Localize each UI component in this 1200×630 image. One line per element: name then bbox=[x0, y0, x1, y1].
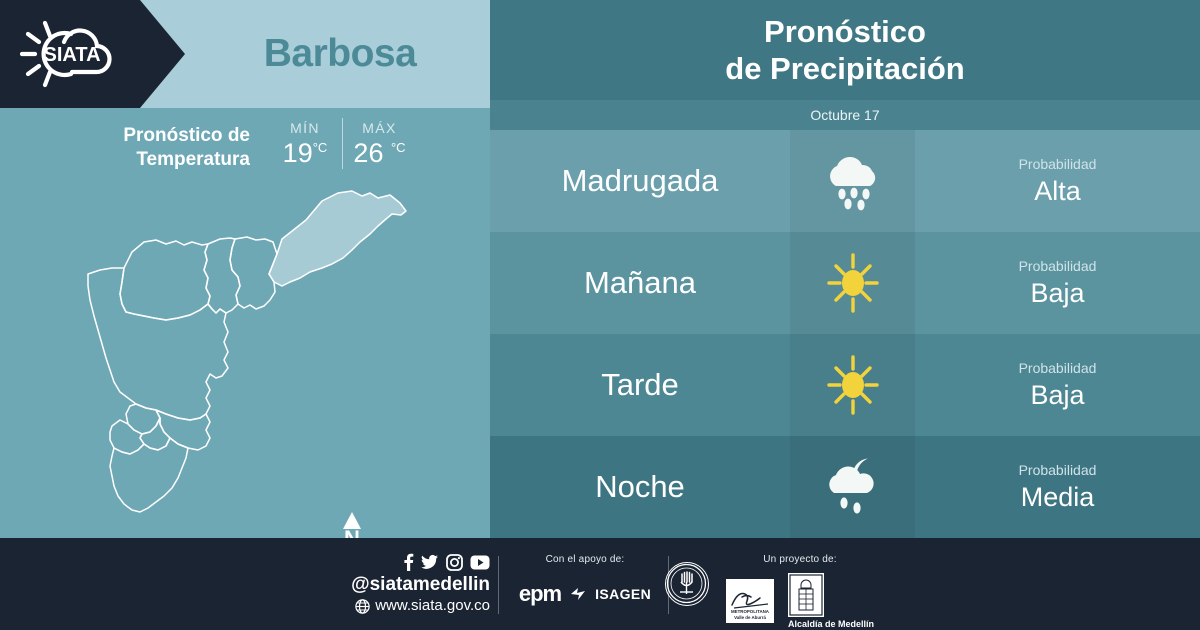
weather-icon-cell bbox=[790, 334, 915, 436]
period-cell: Tarde bbox=[490, 334, 790, 436]
date-bar: Octubre 17 bbox=[490, 100, 1200, 130]
weather-icon-cell bbox=[790, 436, 915, 538]
max-number: 26 bbox=[353, 138, 383, 168]
moon-cloud-rain-icon bbox=[816, 454, 890, 520]
social-handle[interactable]: @siatamedellin bbox=[330, 573, 490, 597]
area-metropolitana-logo: METROPOLITANA Valle de Aburrá bbox=[726, 579, 774, 623]
probability-label: Probabilidad bbox=[1019, 358, 1097, 379]
temperature-title-line1: Pronóstico de bbox=[123, 125, 250, 146]
municipality-map: N bbox=[60, 182, 440, 532]
probability-value: Baja bbox=[1030, 277, 1084, 309]
period-label: Madrugada bbox=[562, 163, 719, 199]
temperature-max: MÁX 26 °C bbox=[342, 118, 416, 169]
map-region-bello[interactable] bbox=[120, 240, 210, 320]
temperature-max-label: MÁX bbox=[343, 118, 416, 139]
project-caption: Un proyecto de: bbox=[700, 554, 900, 565]
period-cell: Mañana bbox=[490, 232, 790, 334]
temperature-min-value: 19°C bbox=[268, 139, 342, 169]
website-line[interactable]: www.siata.gov.co bbox=[330, 597, 490, 616]
probability-cell: Probabilidad Media bbox=[915, 436, 1200, 538]
temperature-min-label: MÍN bbox=[268, 118, 342, 139]
alcaldia-label: Alcaldía de Medellín bbox=[788, 619, 874, 629]
max-unit: °C bbox=[391, 140, 406, 155]
twitter-icon[interactable] bbox=[421, 553, 439, 571]
facebook-icon[interactable] bbox=[403, 553, 414, 571]
isagen-mark-icon bbox=[570, 587, 586, 601]
probability-value: Media bbox=[1021, 481, 1095, 513]
footer-divider-1 bbox=[498, 556, 499, 614]
sun-cloud-icon: SIATA bbox=[14, 14, 134, 94]
period-label: Noche bbox=[595, 469, 685, 505]
project-logos: METROPOLITANA Valle de Aburrá bbox=[700, 573, 900, 629]
project-block: Un proyecto de: METROPOLITANA Valle de A… bbox=[700, 554, 900, 629]
weather-forecast-card: SIATA Barbosa Pronóstico de Temperatura … bbox=[0, 0, 1200, 630]
map-region-caldas[interactable] bbox=[110, 438, 188, 512]
map-region-envigado[interactable] bbox=[156, 410, 210, 450]
area-logo-caption: METROPOLITANA Valle de Aburrá bbox=[726, 609, 774, 620]
forecast-row-tarde[interactable]: Tarde bbox=[490, 334, 1200, 436]
support-block: Con el apoyo de: epm ISAGEN bbox=[505, 554, 665, 607]
probability-label: Probabilidad bbox=[1019, 256, 1097, 277]
period-cell: Madrugada bbox=[490, 130, 790, 232]
left-header: SIATA Barbosa bbox=[0, 0, 490, 108]
support-logos: epm ISAGEN bbox=[505, 581, 665, 607]
siata-logo-text: SIATA bbox=[43, 44, 100, 66]
period-cell: Noche bbox=[490, 436, 790, 538]
temperature-title-line2: Temperatura bbox=[136, 149, 250, 170]
precipitation-header: Pronóstico de Precipitación bbox=[490, 0, 1200, 100]
precipitation-title-line1: Pronóstico bbox=[764, 13, 926, 50]
probability-label: Probabilidad bbox=[1019, 460, 1097, 481]
period-label: Tarde bbox=[601, 367, 679, 403]
epm-logo: epm bbox=[519, 581, 561, 607]
globe-icon bbox=[355, 599, 370, 614]
left-panel: SIATA Barbosa Pronóstico de Temperatura … bbox=[0, 0, 490, 538]
area-sub2: Valle de Aburrá bbox=[734, 615, 766, 620]
instagram-icon[interactable] bbox=[446, 554, 463, 571]
map-region-copacabana[interactable] bbox=[204, 238, 240, 313]
forecast-date: Octubre 17 bbox=[810, 107, 879, 123]
alcaldia-badge bbox=[788, 573, 824, 617]
temperature-values: MÍN 19°C MÁX 26 °C bbox=[268, 118, 416, 169]
forecast-row-manana[interactable]: Mañana bbox=[490, 232, 1200, 334]
temperature-min: MÍN 19°C bbox=[268, 118, 342, 169]
support-caption: Con el apoyo de: bbox=[505, 554, 665, 565]
map-region-barbosa[interactable] bbox=[269, 191, 406, 286]
temperature-title: Pronóstico de Temperatura bbox=[74, 118, 250, 173]
sun-icon bbox=[816, 350, 890, 420]
social-icons bbox=[330, 552, 490, 572]
precipitation-title-line2: de Precipitación bbox=[725, 50, 964, 87]
map-region-itagui[interactable] bbox=[126, 404, 160, 434]
weather-icon-cell bbox=[790, 130, 915, 232]
alcaldia-logo-group: Alcaldía de Medellín bbox=[788, 573, 874, 629]
social-block: @siatamedellin www.siata.gov.co bbox=[330, 552, 490, 616]
website-url: www.siata.gov.co bbox=[375, 597, 490, 616]
sun-icon bbox=[816, 248, 890, 318]
weather-icon-cell bbox=[790, 232, 915, 334]
siata-logo-chevron: SIATA bbox=[0, 0, 185, 108]
forecast-rows: Madrugada Probab bbox=[490, 130, 1200, 538]
rain-cloud-icon bbox=[816, 150, 890, 212]
right-panel: Pronóstico de Precipitación Octubre 17 M… bbox=[490, 0, 1200, 538]
probability-label: Probabilidad bbox=[1019, 154, 1097, 175]
probability-cell: Probabilidad Baja bbox=[915, 334, 1200, 436]
footer: @siatamedellin www.siata.gov.co Con el a… bbox=[0, 538, 1200, 630]
period-label: Mañana bbox=[584, 265, 696, 301]
min-number: 19 bbox=[283, 138, 313, 168]
youtube-icon[interactable] bbox=[470, 555, 490, 570]
min-unit: °C bbox=[313, 140, 328, 155]
city-name: Barbosa bbox=[190, 0, 490, 108]
probability-value: Alta bbox=[1034, 175, 1081, 207]
probability-value: Baja bbox=[1030, 379, 1084, 411]
temperature-max-value: 26 °C bbox=[343, 139, 416, 169]
probability-cell: Probabilidad Baja bbox=[915, 232, 1200, 334]
area-sub1: METROPOLITANA bbox=[731, 609, 769, 614]
forecast-row-noche[interactable]: Noche Probabilidad Media bbox=[490, 436, 1200, 538]
isagen-logo: ISAGEN bbox=[595, 586, 651, 602]
temperature-block: Pronóstico de Temperatura MÍN 19°C MÁX 2… bbox=[0, 118, 490, 180]
probability-cell: Probabilidad Alta bbox=[915, 130, 1200, 232]
map-svg bbox=[60, 182, 440, 532]
forecast-row-madrugada[interactable]: Madrugada Probab bbox=[490, 130, 1200, 232]
